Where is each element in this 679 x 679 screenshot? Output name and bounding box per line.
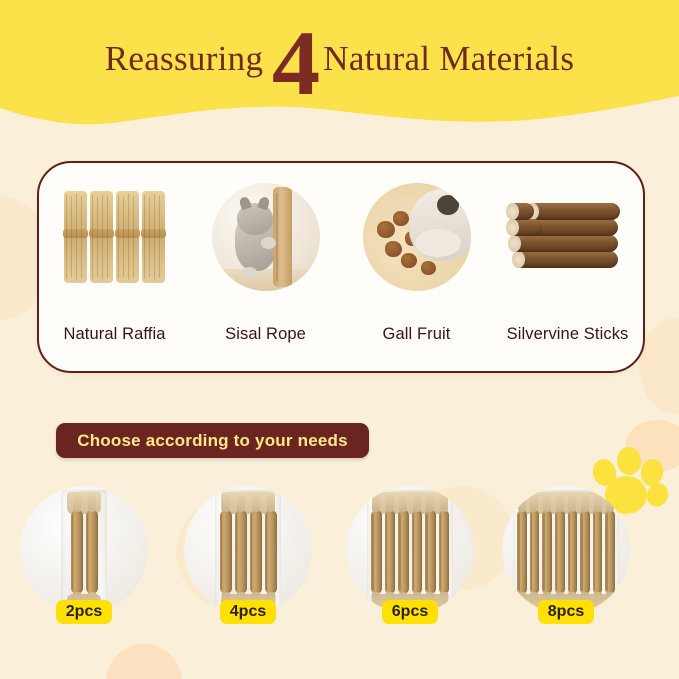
header-number-four: 4: [272, 26, 320, 101]
pack-label-4pcs: 4pcs: [220, 600, 276, 624]
packaged-sticks-4-image: [184, 486, 312, 614]
material-item-gall-fruit: Gall Fruit: [341, 163, 492, 371]
materials-card: Natural Raffia Sisal Rope: [37, 161, 645, 373]
header-banner: Reassuring 4 Natural Materials: [0, 0, 679, 132]
gall-fruit-with-cat-paw-image: [355, 179, 479, 295]
material-item-raffia: Natural Raffia: [39, 163, 190, 371]
header-title-group: Reassuring 4 Natural Materials: [0, 0, 679, 116]
pack-label-6pcs: 6pcs: [382, 600, 438, 624]
pack-option-4pcs[interactable]: 4pcs: [178, 486, 318, 666]
material-item-silvervine: Silvervine Sticks: [492, 163, 643, 371]
infographic-stage: Reassuring 4 Natural Materials Natural R…: [0, 0, 679, 679]
pack-option-6pcs[interactable]: 6pcs: [340, 486, 480, 666]
cat-with-sisal-post-image: [204, 179, 328, 295]
material-label-sisal: Sisal Rope: [225, 325, 306, 344]
packaged-sticks-8-image: [502, 486, 630, 614]
header-right-word: Natural Materials: [323, 41, 574, 76]
pack-label-8pcs: 8pcs: [538, 600, 594, 624]
material-label-silvervine: Silvervine Sticks: [507, 325, 629, 344]
pack-label-2pcs: 2pcs: [56, 600, 112, 624]
pack-options-row: 2pcs 4pcs: [0, 486, 679, 666]
silvervine-stick-pile-image: [506, 179, 630, 295]
material-label-gall-fruit: Gall Fruit: [383, 325, 451, 344]
choose-banner-text: Choose according to your needs: [77, 431, 348, 451]
raffia-bundle-image: [53, 179, 177, 295]
material-item-sisal: Sisal Rope: [190, 163, 341, 371]
packaged-sticks-6-image: [346, 486, 474, 614]
header-left-word: Reassuring: [105, 41, 264, 76]
material-label-raffia: Natural Raffia: [64, 325, 166, 344]
packaged-sticks-2-image: [20, 486, 148, 614]
pack-option-8pcs[interactable]: 8pcs: [496, 486, 636, 666]
pack-option-2pcs[interactable]: 2pcs: [14, 486, 154, 666]
decorative-circle-right: [639, 318, 679, 414]
choose-banner: Choose according to your needs: [56, 423, 369, 458]
